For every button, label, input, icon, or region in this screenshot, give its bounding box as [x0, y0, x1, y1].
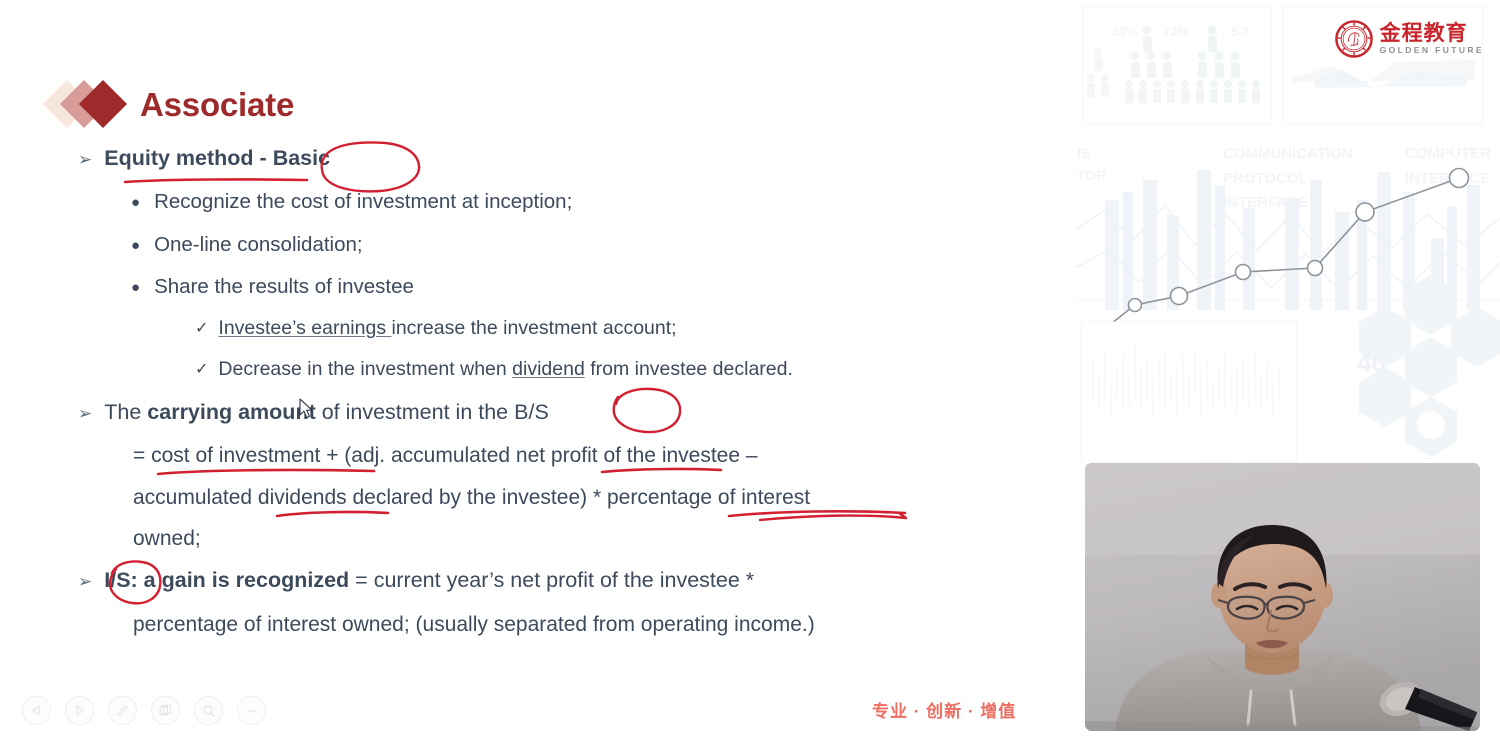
bullet-one-line-consolidation: ● One-line consolidation;: [131, 235, 1038, 257]
bg-label-tor: TOR: [1077, 167, 1106, 183]
pen-icon: [114, 702, 131, 719]
formula-dividends: dividends: [258, 486, 347, 509]
arrow-bullet-icon: ➢: [78, 570, 92, 594]
formula-line-2: accumulated dividends declared by the in…: [133, 487, 1038, 508]
formula-line-1: = cost of investment + (adj. accumulated…: [133, 445, 1038, 466]
bg-pct-3-label: 5-2: [1231, 24, 1250, 39]
arrow-bullet-icon: ➢: [78, 402, 92, 426]
webcam-video[interactable]: [1085, 463, 1480, 731]
bullet-dash: -: [260, 146, 267, 170]
brand-wordmark: 金程教育 GOLDEN FUTURE: [1380, 23, 1484, 55]
bullet-share-results-text: Share the results of investee: [154, 277, 414, 298]
bullet-decrease-pre: Decrease in the investment when: [218, 358, 512, 380]
bullet-one-line-consolidation-text: One-line consolidation;: [154, 235, 363, 256]
bg-hex-number: 40: [1357, 348, 1386, 378]
brand-name-cn: 金程教育: [1380, 23, 1484, 44]
check-bullet-icon: ✓: [195, 360, 208, 381]
search-icon: [201, 703, 217, 719]
slide-body: ➢ Equity method - Basic ● Recognize the …: [78, 148, 1038, 635]
bg-label-communication: COMMUNICATION: [1223, 145, 1353, 162]
background-infographic: 43% 72% 5-2 IS TOR COMMUNICATION PROTOCO…: [1075, 0, 1500, 470]
bullet-is-label: I/S:: [104, 568, 137, 592]
minus-icon: [244, 703, 260, 719]
formula-line-4: percentage of interest owned; (usually s…: [133, 614, 1038, 635]
brand-name-en: GOLDEN FUTURE: [1380, 46, 1484, 55]
brand-tagline: 专业 · 创新 · 增值: [872, 697, 1016, 722]
pen-button[interactable]: [108, 696, 137, 725]
pages-icon: [157, 702, 174, 719]
bullet-decrease-rest: from investee declared.: [585, 358, 793, 380]
bg-label-protocol: PROTOCOL: [1223, 170, 1308, 187]
mouse-cursor: [299, 398, 315, 420]
formula-eq: =: [133, 444, 151, 467]
bullet-basic-label: Basic: [273, 146, 330, 170]
bullet-carrying-amount: ➢ The carrying amount of investment in t…: [78, 402, 1038, 426]
minimize-button[interactable]: [237, 696, 266, 725]
bullet-is-rest: = current year’s net profit of the inves…: [349, 568, 754, 592]
diamond-logo-icon: [50, 78, 126, 130]
formula-declared: declared by the investee) *: [347, 486, 607, 509]
formula-line-3: owned;: [133, 528, 1038, 549]
formula-of-investee: of the investee –: [598, 444, 758, 467]
bg-label-computer: COMPUTER: [1405, 145, 1491, 162]
dot-bullet-icon: ●: [131, 235, 140, 257]
slide-pane: Associate ➢ Equity method - Basic ● Reco…: [0, 0, 1075, 750]
search-button[interactable]: [194, 696, 223, 725]
dot-bullet-icon: ●: [131, 277, 140, 299]
carrying-amount-mid: of investment in the: [316, 400, 514, 424]
underlined-investee-earnings: Investee’s earnings: [218, 317, 391, 339]
previous-slide-button[interactable]: [22, 696, 51, 725]
bullet-investee-earnings-rest: increase the investment account;: [392, 317, 677, 339]
prev-triangle-icon: [29, 703, 44, 718]
bg-label-is: IS: [1077, 145, 1090, 161]
arrow-bullet-icon: ➢: [78, 148, 92, 172]
play-button[interactable]: [65, 696, 94, 725]
formula-plus-adj: + (adj. accumulated: [320, 444, 516, 467]
bullet-investee-earnings: ✓ Investee’s earnings increase the inves…: [195, 319, 1038, 340]
pages-button[interactable]: [151, 696, 180, 725]
right-pane: 43% 72% 5-2 IS TOR COMMUNICATION PROTOCO…: [1075, 0, 1500, 750]
formula-cost-of-investment: cost of investment: [151, 444, 320, 467]
carrying-amount-pre: The: [104, 400, 147, 424]
bullet-decrease-dividend: ✓ Decrease in the investment when divide…: [195, 360, 1038, 381]
formula-accumulated: accumulated: [133, 486, 258, 509]
check-bullet-icon: ✓: [195, 319, 208, 340]
webcam-frame: [1085, 463, 1480, 731]
carrying-amount-bold: carrying amount: [147, 400, 315, 424]
bullet-gain-recognized: a gain is recognized: [138, 568, 349, 592]
screen-recording-viewer: Associate ➢ Equity method - Basic ● Reco…: [0, 0, 1500, 750]
formula-net-profit: net profit: [516, 444, 598, 467]
carrying-amount-bs: B/S: [514, 400, 549, 424]
slide-title-row: Associate: [50, 78, 294, 130]
bg-label-interface-2: INTERFACE: [1405, 170, 1490, 187]
page-title: Associate: [140, 88, 294, 121]
underlined-dividend: dividend: [512, 358, 585, 380]
player-toolbar[interactable]: [22, 696, 266, 725]
bullet-equity-method: ➢ Equity method - Basic: [78, 148, 1038, 172]
bg-pct-2-label: 72%: [1163, 24, 1189, 39]
seal-logo-icon: [1335, 20, 1373, 58]
bullet-recognize-cost-text: Recognize the cost of investment at ince…: [154, 192, 572, 213]
bullet-share-results: ● Share the results of investee: [131, 277, 1038, 299]
brand-logo: 金程教育 GOLDEN FUTURE: [1335, 20, 1484, 58]
dot-bullet-icon: ●: [131, 192, 140, 214]
play-triangle-icon: [72, 703, 87, 718]
bg-pct-1-label: 43%: [1111, 24, 1137, 39]
bullet-is-gain: ➢ I/S: a gain is recognized = current ye…: [78, 570, 1038, 594]
bullet-recognize-cost: ● Recognize the cost of investment at in…: [131, 192, 1038, 214]
formula-percentage-of-interest: percentage of interest: [607, 486, 810, 509]
bullet-equity-method-label: Equity method: [104, 146, 253, 170]
